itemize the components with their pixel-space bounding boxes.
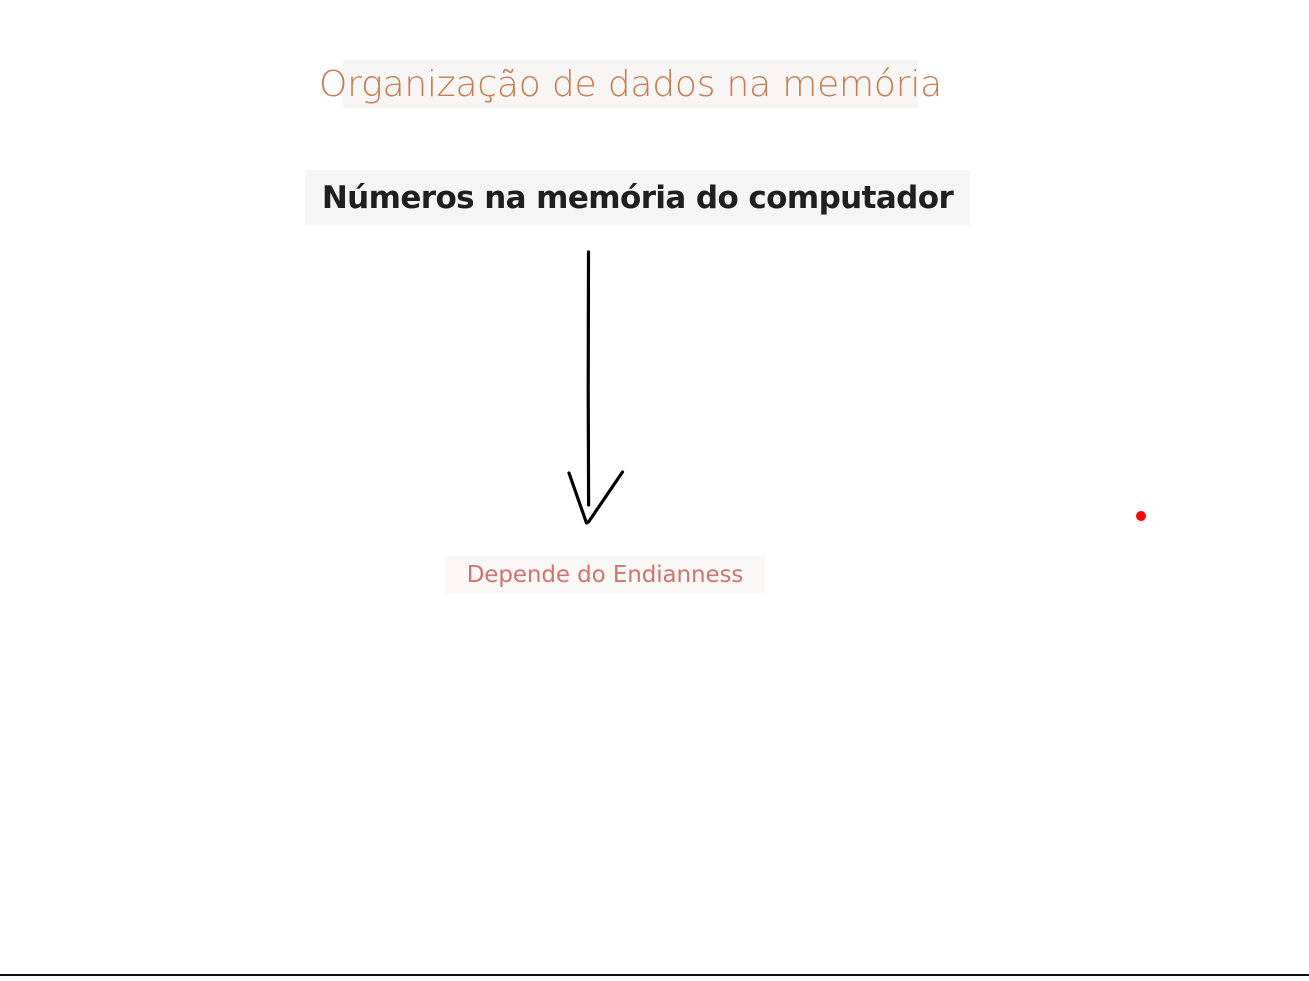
caption-depende-do-endianness: Depende do Endianness <box>445 556 765 593</box>
page-title: Organização de dados na memória <box>343 60 918 108</box>
slide-canvas: Organização de dados na memória Números … <box>0 0 1309 981</box>
laser-pointer-dot-icon <box>1136 511 1146 521</box>
down-arrow-icon <box>545 240 655 540</box>
down-arrow-svg <box>545 240 655 540</box>
subtitle-heading: Números na memória do computador <box>305 170 970 225</box>
bottom-divider <box>0 974 1309 976</box>
